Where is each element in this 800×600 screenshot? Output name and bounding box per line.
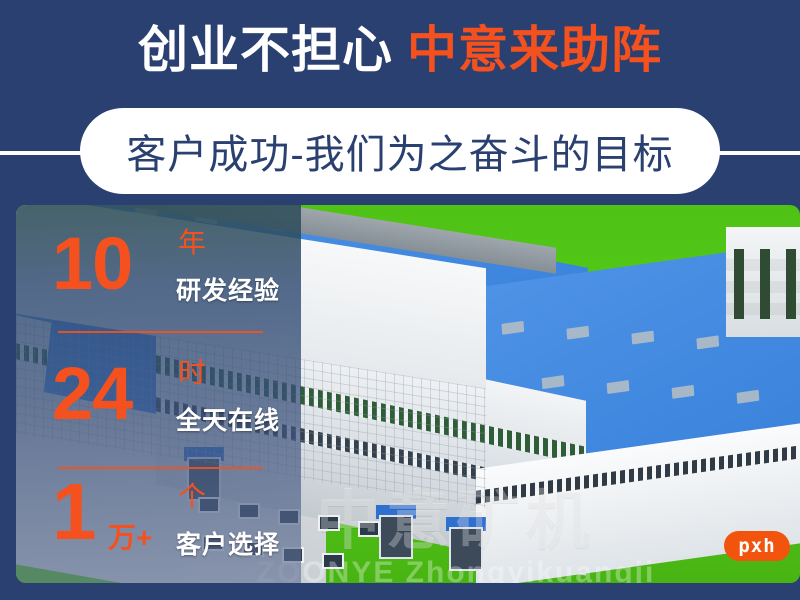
stat-item-availability: 24 时 全天在线 <box>16 353 301 453</box>
headline-orange-part: 中意来助阵 <box>407 22 662 78</box>
stat-label: 客户选择 <box>176 525 280 561</box>
pxh-badge-label: pxh <box>738 535 775 557</box>
stat-divider <box>58 331 263 333</box>
stat-unit: 年 <box>178 227 206 259</box>
stat-suffix: 万+ <box>108 523 152 553</box>
loading-door <box>379 515 413 559</box>
front-window <box>358 521 380 537</box>
stat-label: 研发经验 <box>176 271 280 307</box>
stats-panel: 10 年 研发经验 24 时 全天在线 1 万+ 个 客户选择 <box>16 205 301 583</box>
stat-item-experience: 10 年 研发经验 <box>16 223 301 323</box>
stat-number: 1 <box>52 473 96 551</box>
stat-unit: 时 <box>178 357 206 389</box>
pxh-badge: pxh <box>724 531 790 561</box>
stat-label: 全天在线 <box>176 401 280 437</box>
headline-white-part: 创业不担心 <box>138 22 393 78</box>
stat-unit: 个 <box>178 481 206 513</box>
loading-door <box>449 527 483 571</box>
stat-number: 24 <box>52 355 132 433</box>
subtitle-text: 客户成功-我们为之奋斗的目标 <box>126 122 673 180</box>
front-window <box>318 515 340 531</box>
page-title: 创业不担心中意来助阵 <box>0 22 800 78</box>
header-section: 创业不担心中意来助阵 客户成功-我们为之奋斗的目标 <box>0 0 800 205</box>
front-window <box>322 553 344 569</box>
stat-number: 10 <box>52 225 132 303</box>
factory-photo-panel: 中意矿机 ZOONYE Zhongyikuangji 10 年 研发经验 24 … <box>16 205 800 583</box>
subtitle-pill: 客户成功-我们为之奋斗的目标 <box>80 108 720 194</box>
promo-banner: 创业不担心中意来助阵 客户成功-我们为之奋斗的目标 <box>0 0 800 600</box>
stat-item-customers: 1 万+ 个 客户选择 <box>16 477 301 577</box>
far-right-office-windows <box>726 249 800 319</box>
